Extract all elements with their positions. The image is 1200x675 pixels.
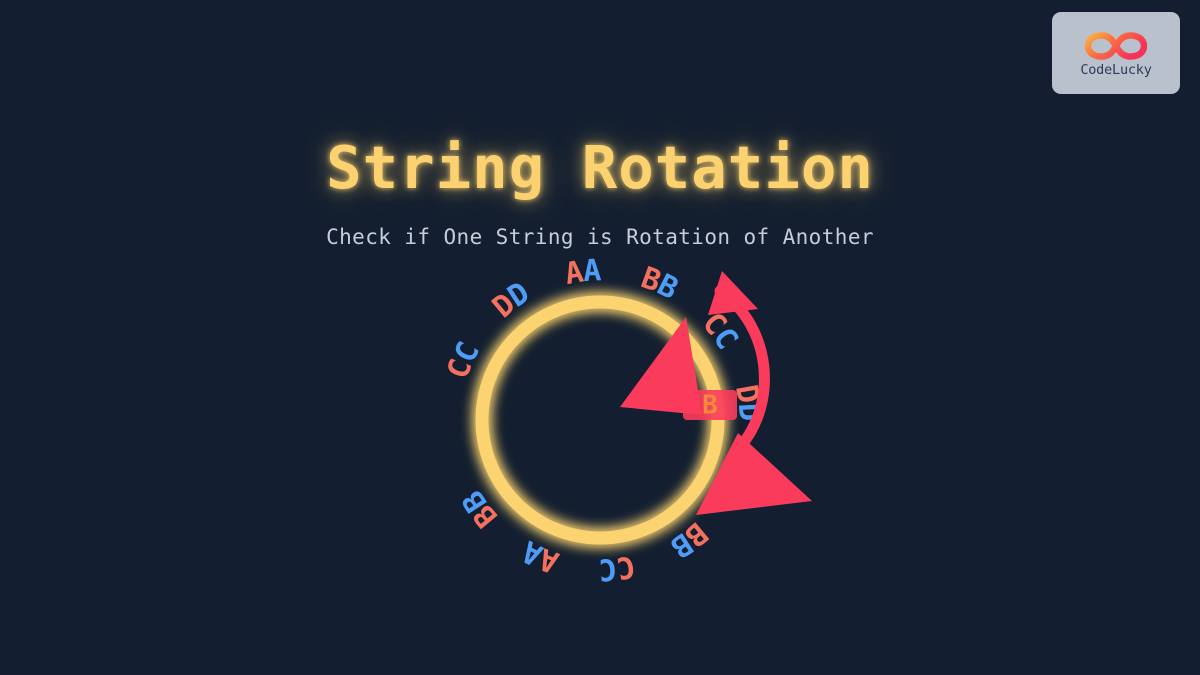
ring-letter: A: [582, 253, 602, 289]
page-subtitle: Check if One String is Rotation of Anoth…: [0, 226, 1200, 249]
arrow-head-top: [708, 271, 758, 315]
brand-logo-card[interactable]: CodeLucky: [1052, 12, 1180, 94]
brand-name: CodeLucky: [1080, 64, 1151, 78]
page-title: String Rotation: [0, 136, 1200, 201]
string-rotation-diagram: CCDDAABBCCDDAABBCCAABB B: [420, 265, 860, 585]
infinity-icon: [1085, 29, 1147, 63]
highlighted-letter-badge: B: [683, 390, 737, 421]
badge-letter: B: [702, 391, 718, 421]
ring-letter: C: [598, 551, 618, 587]
page-root: CodeLucky String Rotation Check if One S…: [0, 0, 1200, 675]
